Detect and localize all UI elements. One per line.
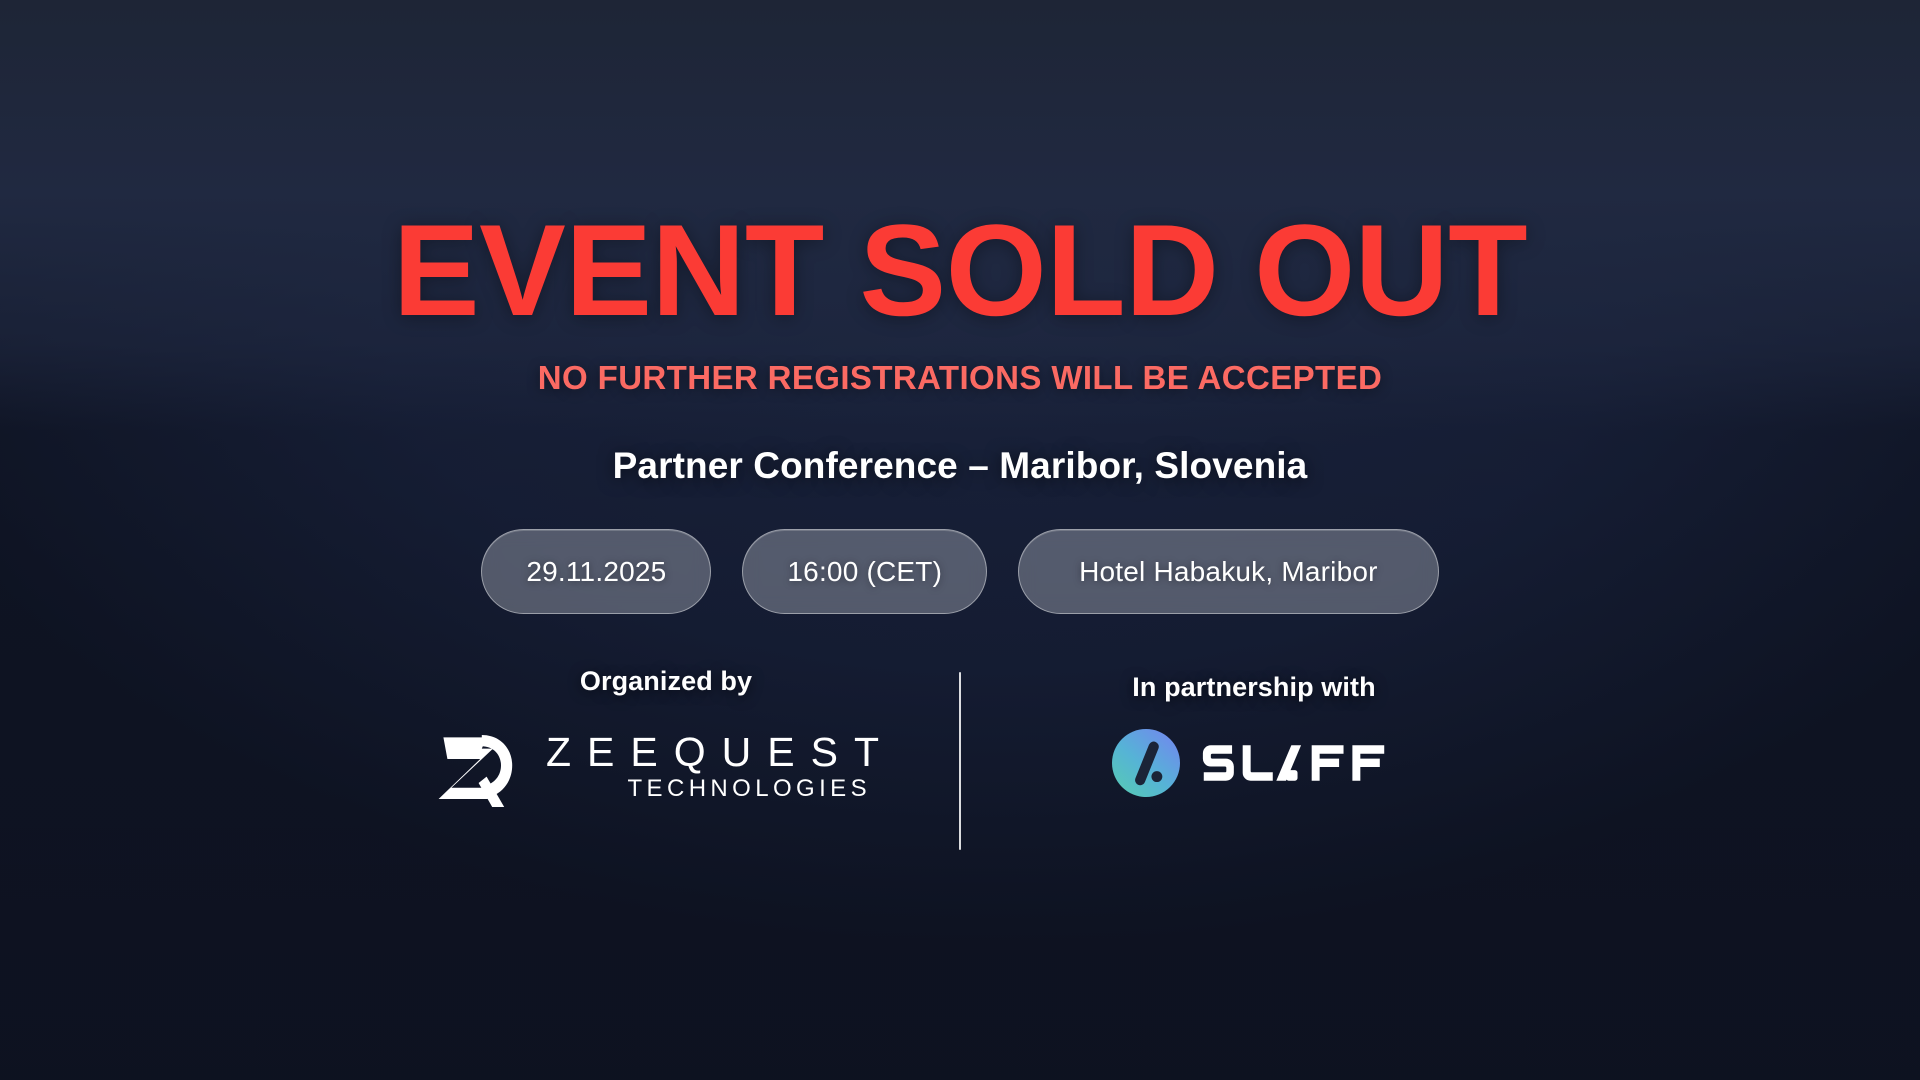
zeequest-name: ZEEQUEST	[543, 731, 895, 774]
pill-date-label: 29.11.2025	[526, 556, 666, 588]
organizer-block: Organized by ZEEQUEST TECHNOLOGIES	[451, 666, 881, 807]
pill-venue[interactable]: Hotel Habakuk, Maribor	[1018, 529, 1439, 614]
pill-time[interactable]: 16:00 (CET)	[742, 529, 987, 614]
credits-row: Organized by ZEEQUEST TECHNOLOGIES	[0, 666, 1920, 850]
partner-block: In partnership with	[1039, 666, 1469, 797]
slaff-wordmark	[1202, 740, 1397, 786]
credits-divider	[959, 672, 961, 850]
zeequest-wordmark: ZEEQUEST TECHNOLOGIES	[543, 731, 895, 802]
event-detail-pills: 29.11.2025 16:00 (CET) Hotel Habakuk, Ma…	[481, 529, 1438, 614]
pill-venue-label: Hotel Habakuk, Maribor	[1079, 556, 1378, 588]
event-banner: EVENT SOLD OUT NO FURTHER REGISTRATIONS …	[0, 0, 1920, 1080]
zeequest-tagline: TECHNOLOGIES	[628, 776, 872, 802]
pill-time-label: 16:00 (CET)	[787, 556, 942, 588]
in-partnership-with-label: In partnership with	[1132, 672, 1375, 703]
banner-content: EVENT SOLD OUT NO FURTHER REGISTRATIONS …	[0, 0, 1920, 1080]
zeequest-logo[interactable]: ZEEQUEST TECHNOLOGIES	[437, 727, 895, 807]
pill-date[interactable]: 29.11.2025	[481, 529, 711, 614]
slaff-logo[interactable]	[1112, 729, 1397, 797]
zeequest-monogram-icon	[437, 727, 517, 807]
no-registrations-subheadline: NO FURTHER REGISTRATIONS WILL BE ACCEPTE…	[538, 359, 1382, 397]
organized-by-label: Organized by	[580, 666, 752, 697]
event-title: Partner Conference – Maribor, Slovenia	[613, 445, 1308, 487]
slaff-circle-slash-icon	[1112, 729, 1180, 797]
sold-out-headline: EVENT SOLD OUT	[393, 205, 1527, 335]
